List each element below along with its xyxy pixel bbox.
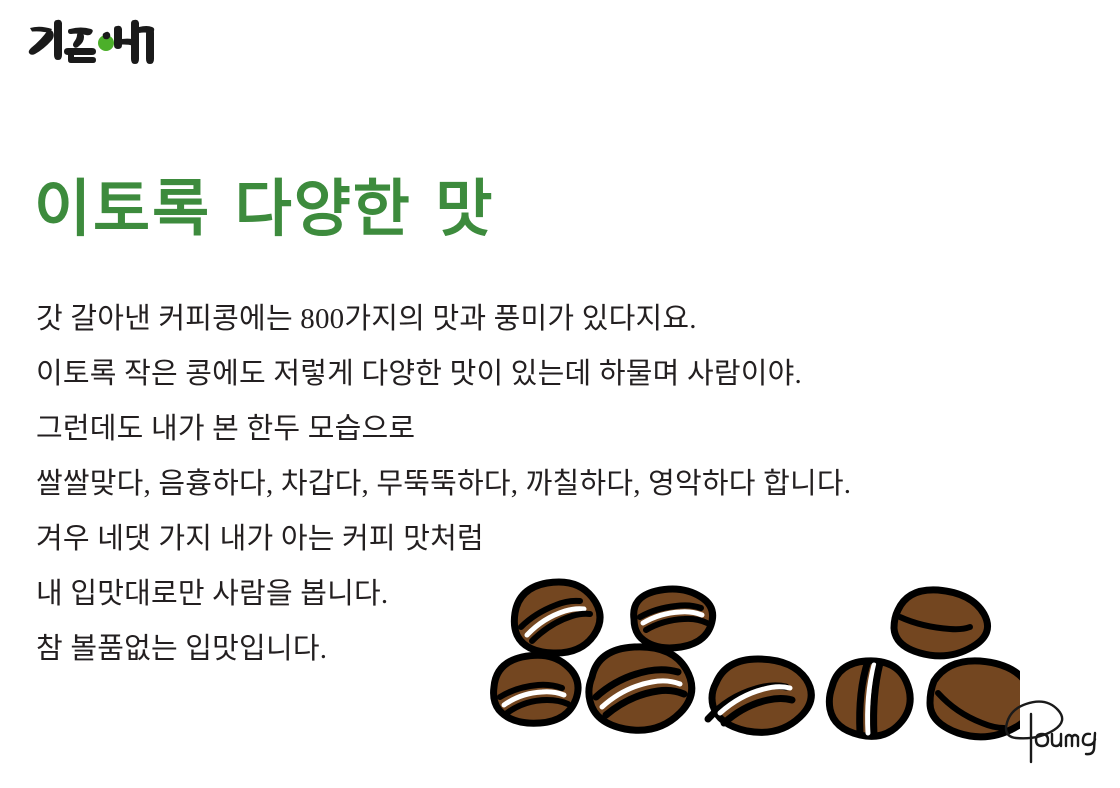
coffee-bean bbox=[589, 647, 692, 730]
coffee-beans-illustration bbox=[480, 555, 1020, 765]
poem-line: 갓 갈아낸 커피콩에는 800가지의 맛과 풍미가 있다지요. bbox=[36, 292, 1036, 347]
poem-line: 이토록 작은 콩에도 저렇게 다양한 맛이 있는데 하물며 사람이야. bbox=[36, 347, 1036, 402]
artist-signature: Poung bbox=[998, 692, 1110, 764]
coffee-bean bbox=[708, 659, 811, 732]
poem-line: 그런데도 내가 본 한두 모습으로 bbox=[36, 402, 1036, 457]
coffee-bean bbox=[514, 582, 600, 653]
signature-text: Poung bbox=[998, 692, 1110, 764]
page-title: 이토록 다양한 맛 bbox=[34, 170, 494, 248]
coffee-bean bbox=[829, 661, 910, 737]
coffee-bean bbox=[894, 590, 988, 656]
coffee-bean bbox=[634, 589, 713, 648]
coffee-bean bbox=[494, 655, 578, 723]
logo-text: 지금여기 bbox=[26, 14, 156, 70]
brand-logo: 지금여기 bbox=[26, 14, 156, 70]
poem-line: 쌀쌀맞다, 음흉하다, 차갑다, 무뚝뚝하다, 까칠하다, 영악하다 합니다. bbox=[36, 457, 1036, 512]
